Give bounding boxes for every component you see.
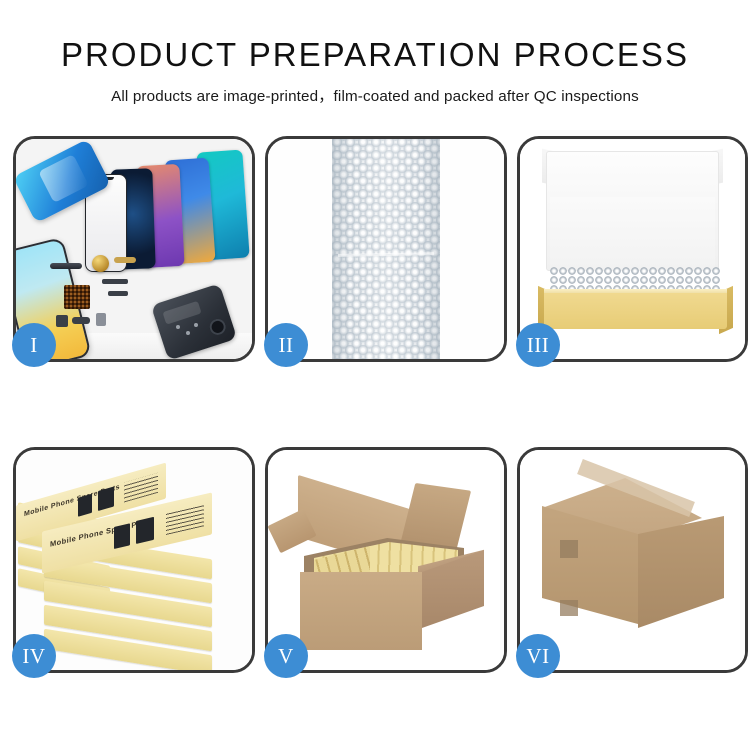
step-badge-4: IV [12,634,56,678]
earpiece-speaker-part [50,263,82,269]
step-image-3 [520,139,745,359]
carton-marking-2 [560,600,578,616]
page-subtitle: All products are image-printed，film-coat… [0,84,750,106]
step-panel-5: V [265,447,507,673]
step-image-6 [520,450,745,670]
step-panel-1: I [13,136,255,362]
step-badge-5: V [264,634,308,678]
step-image-4: Mobile Phone Spare Parts Mobile Phone Sp… [16,450,252,670]
step-panel-6: VI [517,447,748,673]
step-badge-3: III [516,323,560,367]
bubble-wrap-sleeve [332,139,440,359]
screw-part-1 [176,325,180,329]
page-title: PRODUCT PREPARATION PROCESS [0,38,750,71]
step-badge-1: I [12,323,56,367]
box-product-image-rear-1 [78,494,92,517]
button-flex-part [114,257,136,263]
box-spec-lines-rear [124,473,158,503]
sleeve-shading [332,139,440,359]
foam-sheet [550,197,715,271]
inner-box-front [544,293,727,329]
camera-lens-part [92,255,109,272]
step-image-2 [268,139,504,359]
step-image-1 [16,139,252,359]
step-image-5 [268,450,504,670]
box-spec-lines-front [166,504,204,535]
screw-part-2 [186,331,190,335]
vibrator-part [56,315,68,327]
flex-cable-part-1 [102,279,128,284]
box-product-image-front-1 [114,523,130,549]
box-product-image-front-2 [136,517,154,544]
carton-front-face [300,572,422,650]
connector-grid-part [64,285,90,309]
screw-part-3 [194,323,198,327]
product-preparation-infographic: PRODUCT PREPARATION PROCESS All products… [0,0,750,750]
header: PRODUCT PREPARATION PROCESS All products… [0,0,750,106]
step-panel-3: III [517,136,748,362]
box-product-image-rear-2 [98,486,114,511]
step-badge-6: VI [516,634,560,678]
flex-cable-part-2 [108,291,128,296]
battery-connector-part [72,317,90,324]
carton-marking-1 [560,540,578,558]
step-panel-2: II [265,136,507,362]
step-badge-2: II [264,323,308,367]
steps-grid: I II [13,136,742,673]
step-panel-4: Mobile Phone Spare Parts Mobile Phone Sp… [13,447,255,673]
sim-tray-part [96,313,106,326]
